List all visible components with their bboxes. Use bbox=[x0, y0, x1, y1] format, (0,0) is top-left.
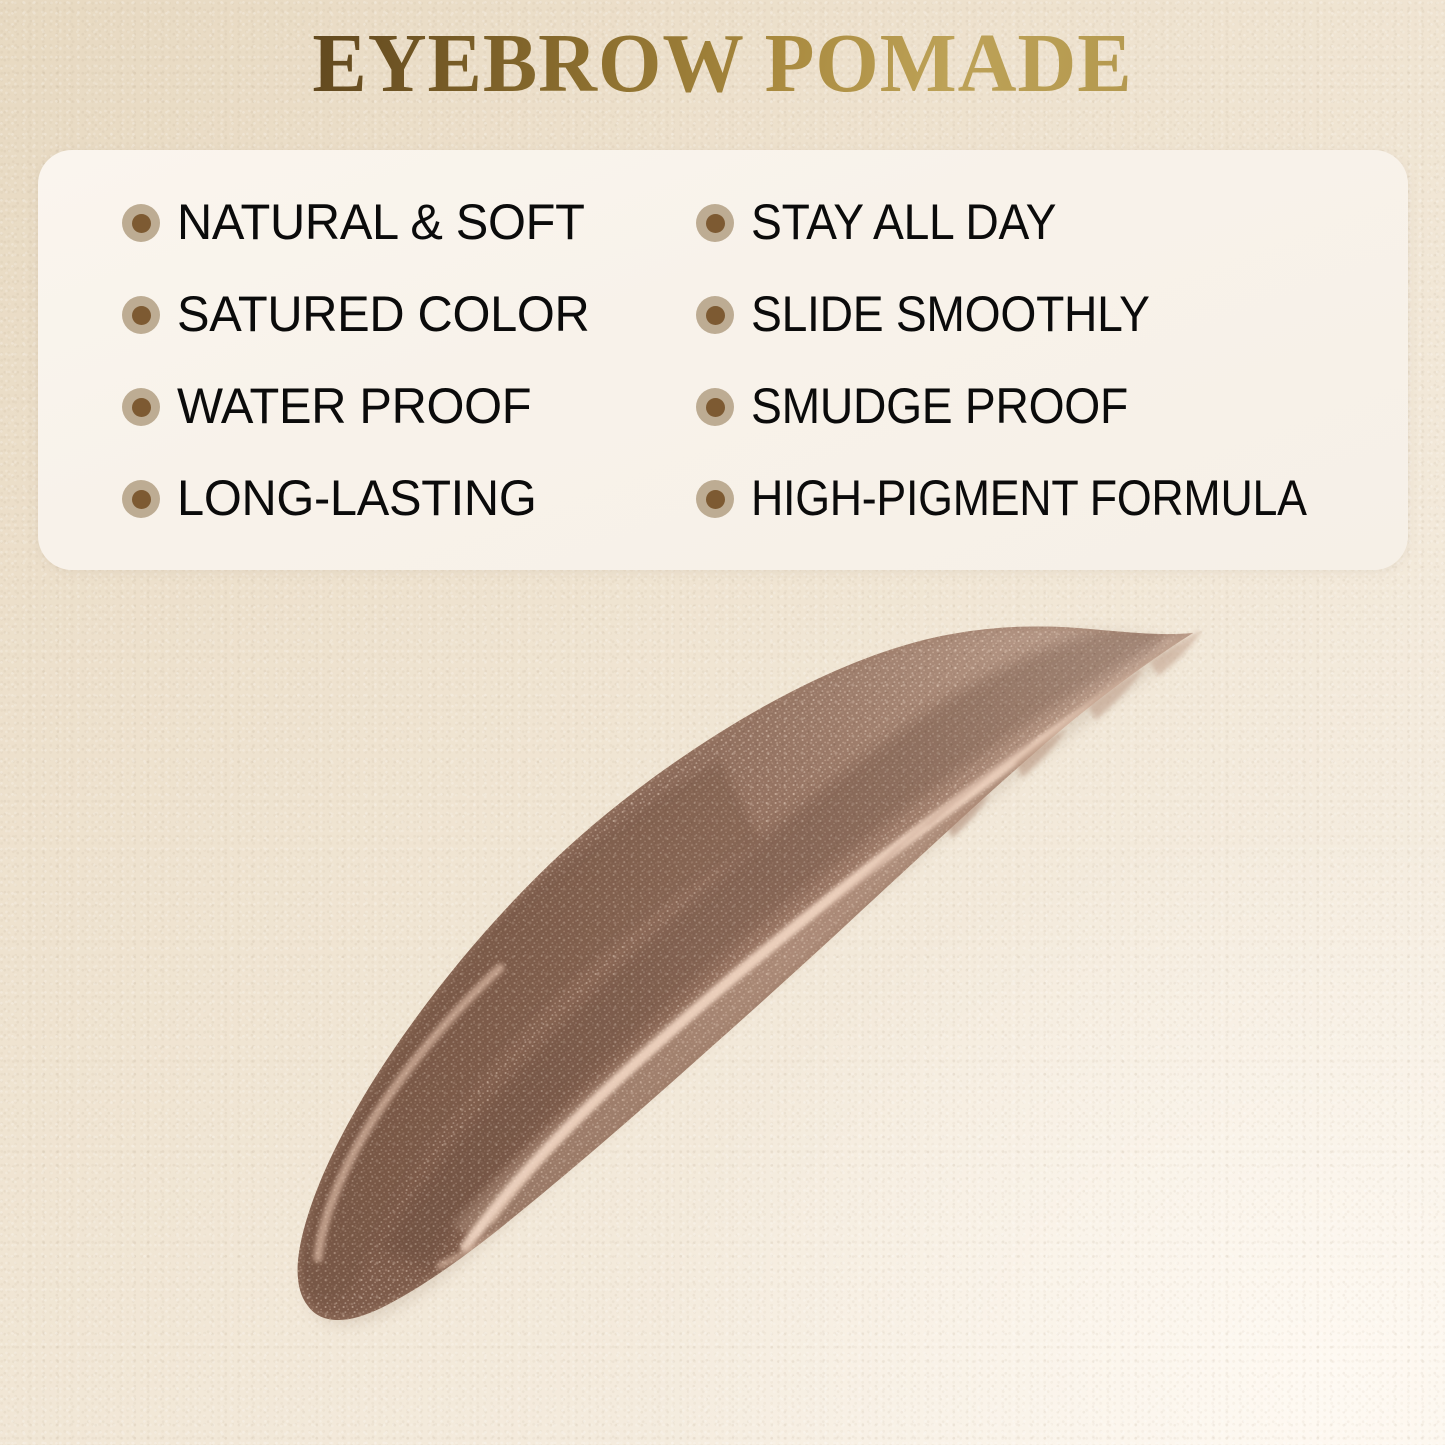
product-feature-graphic: EYEBROW POMADE NATURAL & SOFT STAY ALL D… bbox=[0, 0, 1445, 1445]
bullet-icon bbox=[696, 296, 734, 334]
bullet-icon bbox=[122, 204, 160, 242]
feature-item-slide-smoothly: SLIDE SMOOTHLY bbox=[696, 288, 1390, 340]
feature-label: SATURED COLOR bbox=[177, 288, 589, 340]
swatch-edge-feather bbox=[298, 626, 1193, 1320]
bullet-icon bbox=[122, 388, 160, 426]
feature-item-smudge-proof: SMUDGE PROOF bbox=[696, 380, 1390, 432]
feature-item-water-proof: WATER PROOF bbox=[122, 380, 696, 432]
feature-item-natural-and-soft: NATURAL & SOFT bbox=[122, 196, 696, 248]
feature-label: SMUDGE PROOF bbox=[751, 380, 1128, 432]
swatch-body bbox=[280, 600, 1245, 1360]
feature-item-stay-all-day: STAY ALL DAY bbox=[696, 196, 1390, 248]
swatch-shadow bbox=[308, 631, 1186, 1325]
bullet-icon bbox=[122, 296, 160, 334]
features-grid: NATURAL & SOFT STAY ALL DAY SATURED COLO… bbox=[122, 176, 1390, 544]
bullet-icon bbox=[696, 204, 734, 242]
feature-item-high-pigment-formula: HIGH-PIGMENT FORMULA bbox=[696, 472, 1390, 524]
feature-label: STAY ALL DAY bbox=[751, 196, 1056, 248]
swatch-tip-wisps bbox=[946, 630, 1202, 838]
bullet-icon bbox=[696, 388, 734, 426]
feature-item-long-lasting: LONG-LASTING bbox=[122, 472, 696, 524]
features-card: NATURAL & SOFT STAY ALL DAY SATURED COLO… bbox=[38, 150, 1408, 570]
bullet-icon bbox=[696, 480, 734, 518]
feature-item-satured-color: SATURED COLOR bbox=[122, 288, 696, 340]
feature-label: WATER PROOF bbox=[177, 380, 531, 432]
bullet-icon bbox=[122, 480, 160, 518]
feature-label: HIGH-PIGMENT FORMULA bbox=[751, 472, 1307, 524]
feature-label: LONG-LASTING bbox=[177, 472, 536, 524]
feature-label: NATURAL & SOFT bbox=[177, 196, 585, 248]
page-title: EYEBROW POMADE bbox=[22, 22, 1424, 106]
feature-label: SLIDE SMOOTHLY bbox=[751, 288, 1150, 340]
